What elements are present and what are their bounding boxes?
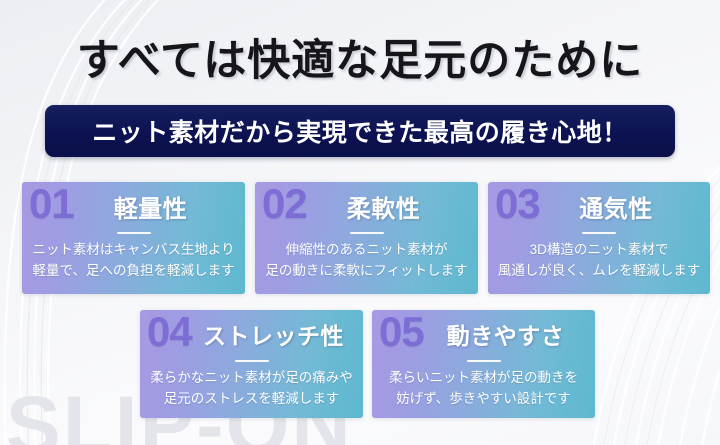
feature-card-01-body: ニット素材はキャンバス生地より 軽量で、足への負担を軽減します bbox=[22, 240, 245, 290]
feature-card-02-title: 柔軟性 bbox=[347, 189, 421, 224]
feature-card-02-number: 02 bbox=[262, 182, 307, 226]
feature-card-04-body: 柔らかなニット素材が足の痛みや 足元のストレスを軽減します bbox=[140, 368, 363, 418]
feature-card-02-header: 02 柔軟性 bbox=[255, 182, 478, 230]
feature-card-05-line2: 妨げず、歩きやすい設計です bbox=[380, 389, 587, 410]
feature-card-04-line2: 足元のストレスを軽減します bbox=[148, 389, 355, 410]
feature-card-05-divider bbox=[467, 360, 501, 362]
feature-card-04-header: 04 ストレッチ性 bbox=[140, 310, 363, 358]
feature-card-03-divider bbox=[582, 232, 616, 234]
feature-card-05-body: 柔らいニット素材が足の動きを 妨げず、歩きやすい設計です bbox=[372, 368, 595, 418]
feature-card-05-header: 05 動きやすさ bbox=[372, 310, 595, 358]
feature-card-03-header: 03 通気性 bbox=[488, 182, 710, 230]
feature-card-05-line1: 柔らいニット素材が足の動きを bbox=[380, 368, 587, 389]
feature-card-05-number: 05 bbox=[379, 310, 424, 354]
feature-card-04-line1: 柔らかなニット素材が足の痛みや bbox=[148, 368, 355, 389]
feature-card-02-line1: 伸縮性のあるニット素材が bbox=[263, 240, 470, 261]
feature-card-04-number: 04 bbox=[147, 310, 192, 354]
feature-card-02-line2: 足の動きに柔軟にフィットします bbox=[263, 261, 470, 282]
feature-card-05[interactable]: 05 動きやすさ 柔らいニット素材が足の動きを 妨げず、歩きやすい設計です bbox=[372, 310, 595, 418]
feature-card-01-line2: 軽量で、足への負担を軽減します bbox=[30, 261, 237, 282]
feature-card-02-divider bbox=[350, 232, 384, 234]
feature-card-01[interactable]: 01 軽量性 ニット素材はキャンバス生地より 軽量で、足への負担を軽減します bbox=[22, 182, 245, 294]
feature-card-05-title: 動きやすさ bbox=[447, 317, 565, 351]
feature-card-04[interactable]: 04 ストレッチ性 柔らかなニット素材が足の痛みや 足元のストレスを軽減します bbox=[140, 310, 363, 418]
feature-card-01-number: 01 bbox=[29, 182, 74, 226]
feature-card-03-line2: 風通しが良く、ムレを軽減します bbox=[496, 261, 702, 282]
subtitle-banner-text: ニット素材だから実現できた最高の履き心地！ bbox=[92, 113, 628, 149]
feature-card-03-line1: 3D構造のニット素材で bbox=[496, 240, 702, 261]
subtitle-banner: ニット素材だから実現できた最高の履き心地！ bbox=[45, 105, 675, 157]
feature-card-03-title: 通気性 bbox=[579, 189, 653, 224]
feature-card-01-line1: ニット素材はキャンバス生地より bbox=[30, 240, 237, 261]
feature-card-03[interactable]: 03 通気性 3D構造のニット素材で 風通しが良く、ムレを軽減します bbox=[488, 182, 710, 294]
feature-card-03-body: 3D構造のニット素材で 風通しが良く、ムレを軽減します bbox=[488, 240, 710, 290]
feature-card-02-body: 伸縮性のあるニット素材が 足の動きに柔軟にフィットします bbox=[255, 240, 478, 290]
page-title: すべては快適な足元のために bbox=[0, 26, 720, 88]
feature-card-01-title: 軽量性 bbox=[114, 189, 188, 224]
feature-card-03-number: 03 bbox=[495, 182, 540, 226]
feature-card-01-divider bbox=[117, 232, 151, 234]
slide-root: SLIP-ON すべては快適な足元のために ニット素材だから実現できた最高の履き… bbox=[0, 0, 720, 445]
feature-card-04-divider bbox=[235, 360, 269, 362]
feature-card-04-title: ストレッチ性 bbox=[203, 317, 344, 351]
feature-card-02[interactable]: 02 柔軟性 伸縮性のあるニット素材が 足の動きに柔軟にフィットします bbox=[255, 182, 478, 294]
feature-card-01-header: 01 軽量性 bbox=[22, 182, 245, 230]
